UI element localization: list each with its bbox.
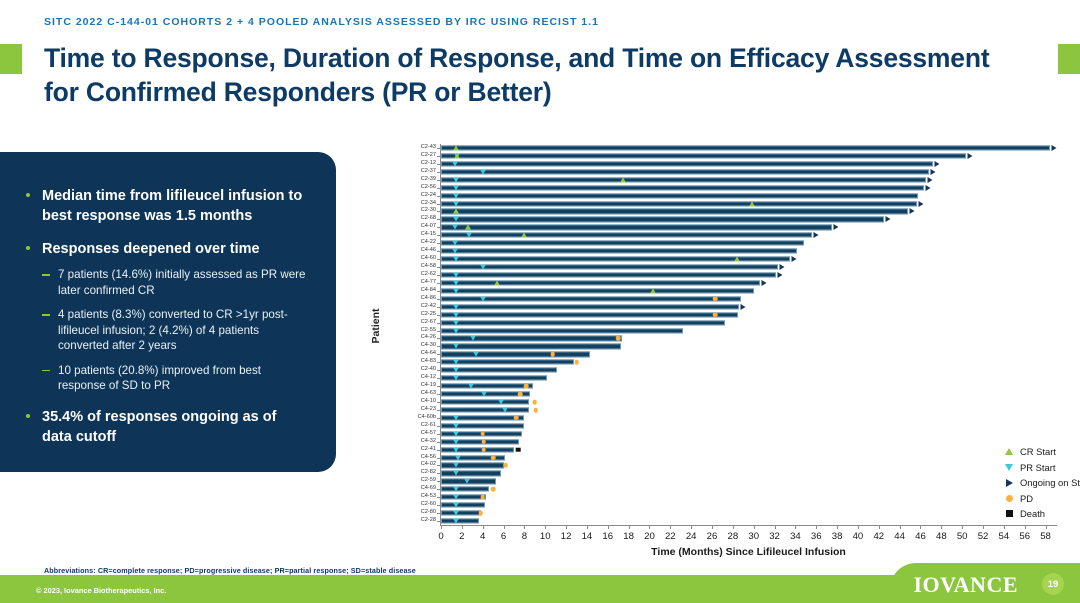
ongoing-marker-icon [741, 304, 746, 310]
y-axis-tick-label: C4-86 [421, 296, 436, 302]
pd-marker-icon [480, 495, 485, 500]
x-axis-tick [566, 525, 567, 529]
pd-marker-icon [534, 408, 539, 413]
x-axis-tick [795, 525, 796, 529]
pr-start-marker-icon [453, 360, 459, 365]
x-axis-tick-label: 50 [957, 531, 968, 542]
pd-marker-icon [491, 455, 496, 460]
y-axis-title: Patient [370, 296, 382, 356]
swimmer-bar [441, 304, 739, 309]
y-axis-tick-label: C2-62 [421, 272, 436, 278]
cr-start-marker-icon [521, 233, 527, 238]
pr-start-marker-icon [480, 296, 486, 301]
swimmer-bar [441, 352, 590, 357]
pd-marker-icon [713, 296, 718, 301]
swimmer-bar [441, 185, 924, 190]
x-axis-tick-label: 40 [853, 531, 864, 542]
pd-marker-icon [533, 400, 538, 405]
plot-wrapper: C2-43C2-27C2-12C2-37C2-39C2-56C2-24C2-34… [406, 144, 1056, 524]
key-finding-text: Responses deepened over time [42, 241, 260, 257]
dash-icon [42, 314, 50, 316]
pr-start-marker-icon [466, 233, 472, 238]
x-axis-tick [1004, 525, 1005, 529]
legend-label: PD [1020, 493, 1033, 504]
pd-marker-icon [616, 336, 621, 341]
ongoing-marker-icon [927, 177, 932, 183]
y-axis-tick-label: C4-77 [421, 280, 436, 286]
pr-start-marker-icon [453, 439, 459, 444]
x-axis-tick-label: 44 [894, 531, 905, 542]
key-finding-sublist: 7 patients (14.6%) initially assessed as… [42, 267, 310, 394]
swimmer-bar [441, 463, 504, 468]
pr-start-marker-icon [453, 415, 459, 420]
pd-marker-icon [574, 360, 579, 365]
x-axis-tick-label: 20 [644, 531, 655, 542]
x-axis-tick [837, 525, 838, 529]
key-finding-bullet: 35.4% of responses ongoing as of data cu… [26, 407, 310, 447]
pr-start-marker-icon [498, 399, 504, 404]
x-axis-tick [587, 525, 588, 529]
swimmer-bar [441, 233, 812, 238]
swimmer-bar [441, 288, 754, 293]
y-axis-tick-label: C4-60 [421, 256, 436, 262]
ongoing-marker-icon [909, 208, 914, 214]
ongoing-marker-icon [930, 169, 935, 175]
swimmer-bar [441, 296, 741, 301]
pr-start-marker-icon [453, 257, 459, 262]
slide-eyebrow: SITC 2022 C-144-01 COHORTS 2 + 4 POOLED … [44, 16, 599, 28]
pd-marker-icon [491, 487, 496, 492]
y-axis-tick-label: C2-60 [421, 502, 436, 508]
x-axis-tick [816, 525, 817, 529]
x-axis-tick-label: 54 [999, 531, 1010, 542]
swimmer-bar [441, 360, 574, 365]
swimmer-bar [441, 471, 501, 476]
swimmer-bar [441, 487, 489, 492]
y-axis-tick-label: C4-19 [421, 383, 436, 389]
y-axis-tick-label: C4-26 [421, 336, 436, 342]
swimmer-bar [441, 241, 804, 246]
ongoing-marker-icon [814, 232, 819, 238]
pr-start-marker-icon [473, 352, 479, 357]
pr-start-marker-icon [502, 407, 508, 412]
pr-start-marker-icon [470, 336, 476, 341]
x-axis-tick-label: 26 [707, 531, 718, 542]
legend-triangle-up-icon [1002, 448, 1016, 455]
y-axis-tick-label: C4-60b [418, 415, 436, 421]
pr-start-marker-icon [453, 312, 459, 317]
key-finding-subtext: 7 patients (14.6%) initially assessed as… [58, 268, 305, 297]
bullet-dot-icon [26, 246, 30, 250]
pr-start-marker-icon [453, 304, 459, 309]
pd-marker-icon [550, 352, 555, 357]
pr-start-marker-icon [453, 471, 459, 476]
key-finding-bullet: Median time from lifileucel infusion to … [26, 186, 310, 226]
pd-marker-icon [514, 416, 519, 421]
swimmer-bar [441, 503, 485, 508]
pr-start-marker-icon [453, 344, 459, 349]
x-axis-tick-label: 12 [561, 531, 572, 542]
pr-start-marker-icon [453, 447, 459, 452]
swimmer-bar [441, 399, 529, 404]
y-axis-tick-label: C2-37 [421, 169, 436, 175]
title-accent-right-bar [1058, 44, 1080, 74]
y-axis-tick-label: C4-83 [421, 359, 436, 365]
ongoing-marker-icon [925, 185, 930, 191]
pr-start-marker-icon [453, 495, 459, 500]
swimmer-bar [441, 384, 533, 389]
pr-start-marker-icon [453, 511, 459, 516]
y-axis-tick-label: C2-82 [421, 471, 436, 477]
y-axis-tick-label: C4-07 [421, 225, 436, 231]
legend-triangle-right-icon [1002, 479, 1016, 487]
pr-start-marker-icon [453, 463, 459, 468]
x-axis-tick-label: 32 [769, 531, 780, 542]
cr-start-marker-icon [734, 257, 740, 262]
x-axis-tick [941, 525, 942, 529]
x-axis-tick [733, 525, 734, 529]
y-axis-tick-label: C4-23 [421, 407, 436, 413]
x-axis-tick-label: 14 [582, 531, 593, 542]
y-axis-tick-label: C2-55 [421, 328, 436, 334]
pr-start-marker-icon [481, 392, 487, 397]
x-axis-tick [962, 525, 963, 529]
legend-label: CR Start [1020, 446, 1056, 457]
pd-marker-icon [478, 511, 483, 516]
y-axis-labels: C2-43C2-27C2-12C2-37C2-39C2-56C2-24C2-34… [406, 144, 440, 524]
ongoing-marker-icon [761, 280, 766, 286]
ongoing-marker-icon [777, 272, 782, 278]
key-finding-subitem: 4 patients (8.3%) converted to CR >1yr p… [42, 307, 310, 354]
x-axis-tick [670, 525, 671, 529]
pr-start-marker-icon [453, 280, 459, 285]
ongoing-marker-icon [935, 161, 940, 167]
swimmer-plot-chart: Patient C2-43C2-27C2-12C2-37C2-39C2-56C2… [352, 140, 1064, 558]
swimmer-bar [441, 328, 683, 333]
cr-start-marker-icon [494, 280, 500, 285]
x-axis-tick [775, 525, 776, 529]
y-axis-tick-label: C2-25 [421, 312, 436, 318]
ongoing-marker-icon [886, 216, 891, 222]
abbreviations-note: Abbreviations: CR=complete response; PD=… [44, 566, 416, 575]
pr-start-marker-icon [452, 161, 458, 166]
pr-start-marker-icon [453, 368, 459, 373]
y-axis-tick-label: C2-34 [421, 201, 436, 207]
swimmer-bar [441, 320, 725, 325]
x-axis-tick-label: 36 [811, 531, 822, 542]
title-accent-left-bar [0, 44, 22, 74]
cr-start-marker-icon [453, 145, 459, 150]
y-axis-tick-label: C4-22 [421, 240, 436, 246]
pr-start-marker-icon [480, 169, 486, 174]
x-axis-tick-label: 56 [1019, 531, 1030, 542]
x-axis-tick [712, 525, 713, 529]
x-axis-tick-label: 6 [501, 531, 506, 542]
x-axis-tick [754, 525, 755, 529]
legend-item: Death [1002, 506, 1080, 522]
x-axis-tick-label: 48 [936, 531, 947, 542]
y-axis-tick-label: C4-63 [421, 391, 436, 397]
y-axis-tick-label: C2-40 [421, 367, 436, 373]
swimmer-bar [441, 495, 486, 500]
y-axis-tick-label: C2-30 [421, 209, 436, 215]
iovance-logo: IOVANCE [913, 572, 1018, 598]
y-axis-tick-label: C4-57 [421, 431, 436, 437]
pr-start-marker-icon [453, 487, 459, 492]
y-axis-tick-label: C2-68 [421, 217, 436, 223]
y-axis-tick-label: C2-39 [421, 177, 436, 183]
legend-item: PD [1002, 491, 1080, 507]
y-axis-tick-label: C4-53 [421, 494, 436, 500]
y-axis-tick-label: C2-67 [421, 320, 436, 326]
y-axis-tick-label: C4-84 [421, 288, 436, 294]
y-axis-tick-label: C4-32 [421, 439, 436, 445]
y-axis-tick-label: C2-61 [421, 423, 436, 429]
copyright-text: © 2023, Iovance Biotherapeutics, Inc. [36, 586, 166, 595]
cr-start-marker-icon [749, 201, 755, 206]
legend-item: PR Start [1002, 460, 1080, 476]
pr-start-marker-icon [453, 185, 459, 190]
x-axis-tick-label: 8 [522, 531, 527, 542]
x-axis-tick [629, 525, 630, 529]
x-axis-tick-label: 34 [790, 531, 801, 542]
pr-start-marker-icon [453, 423, 459, 428]
pr-start-marker-icon [468, 384, 474, 389]
y-axis-tick-label: C2-43 [421, 145, 436, 151]
x-axis-tick-label: 58 [1040, 531, 1051, 542]
ongoing-marker-icon [919, 201, 924, 207]
x-axis-tick-label: 24 [686, 531, 697, 542]
x-axis-tick-label: 16 [602, 531, 613, 542]
legend-label: PR Start [1020, 462, 1055, 473]
pr-start-marker-icon [455, 455, 461, 460]
x-axis-tick [524, 525, 525, 529]
y-axis-tick-label: C4-30 [421, 344, 436, 350]
x-axis-tick-label: 42 [873, 531, 884, 542]
swimmer-bar [441, 272, 776, 277]
cr-start-marker-icon [454, 153, 460, 158]
cr-start-marker-icon [650, 288, 656, 293]
ongoing-marker-icon [792, 256, 797, 262]
bullet-dot-icon [26, 193, 30, 197]
y-axis-tick-label: C2-59 [421, 479, 436, 485]
swimmer-bar [441, 407, 529, 412]
swimmer-bar [441, 280, 760, 285]
swimmer-bar [441, 153, 966, 158]
swimmer-bar [441, 264, 778, 269]
x-axis-tick-label: 4 [480, 531, 485, 542]
ongoing-marker-icon [1051, 145, 1056, 151]
swimmer-bar [441, 518, 479, 523]
key-finding-subtext: 10 patients (20.8%) improved from best r… [58, 364, 261, 393]
x-axis-tick [441, 525, 442, 529]
legend-triangle-down-icon [1002, 464, 1016, 471]
swimmer-bar [441, 312, 738, 317]
y-axis-tick-label: C2-12 [421, 161, 436, 167]
y-axis-tick-label: C4-69 [421, 486, 436, 492]
y-axis-tick-label: C2-56 [421, 185, 436, 191]
pr-start-marker-icon [480, 265, 486, 270]
y-axis-tick-label: C4-64 [421, 352, 436, 358]
key-finding-text: Median time from lifileucel infusion to … [42, 188, 302, 224]
cr-start-marker-icon [453, 209, 459, 214]
y-axis-tick-label: C4-12 [421, 375, 436, 381]
pr-start-marker-icon [453, 193, 459, 198]
x-axis-tick [1046, 525, 1047, 529]
ongoing-marker-icon [779, 264, 784, 270]
pd-marker-icon [480, 431, 485, 436]
swimmer-bar [441, 217, 884, 222]
x-axis-tick-label: 52 [978, 531, 989, 542]
pd-marker-icon [503, 463, 508, 468]
x-axis-tick-label: 2 [459, 531, 464, 542]
pr-start-marker-icon [453, 288, 459, 293]
swimmer-bar [441, 225, 832, 230]
y-axis-tick-label: C2-27 [421, 153, 436, 159]
pd-marker-icon [481, 447, 486, 452]
y-axis-tick-label: C2-42 [421, 304, 436, 310]
y-axis-tick-label: C2-80 [421, 510, 436, 516]
x-axis-tick [879, 525, 880, 529]
x-axis-tick-label: 10 [540, 531, 551, 542]
x-axis-tick [545, 525, 546, 529]
swimmer-bar [441, 249, 797, 254]
x-axis-tick-label: 28 [728, 531, 739, 542]
key-finding-text: 35.4% of responses ongoing as of data cu… [42, 409, 276, 445]
pr-start-marker-icon [464, 479, 470, 484]
swimmer-bar [441, 169, 929, 174]
pr-start-marker-icon [453, 217, 459, 222]
page-number-badge: 19 [1042, 573, 1064, 595]
y-axis-tick-label: C4-46 [421, 248, 436, 254]
key-finding-subitem: 10 patients (20.8%) improved from best r… [42, 363, 310, 394]
pr-start-marker-icon [453, 503, 459, 508]
pr-start-marker-icon [453, 201, 459, 206]
y-axis-tick-label: C2-24 [421, 193, 436, 199]
chart-legend: CR StartPR StartOngoing on StudyPDDeath [1002, 444, 1080, 522]
x-axis-title: Time (Months) Since Lifileucel Infusion [440, 546, 1057, 558]
x-axis-tick [691, 525, 692, 529]
cr-start-marker-icon [620, 177, 626, 182]
cr-start-marker-icon [465, 225, 471, 230]
legend-item: Ongoing on Study [1002, 475, 1080, 491]
x-axis-tick-label: 38 [832, 531, 843, 542]
y-axis-tick-label: C4-58 [421, 264, 436, 270]
key-finding-subtext: 4 patients (8.3%) converted to CR >1yr p… [58, 308, 288, 352]
x-axis-tick [920, 525, 921, 529]
y-axis-tick-label: C2-41 [421, 447, 436, 453]
x-axis-tick-label: 18 [623, 531, 634, 542]
swimmer-bar [441, 193, 918, 198]
pr-start-marker-icon [453, 376, 459, 381]
pd-marker-icon [713, 312, 718, 317]
legend-circle-icon [1002, 495, 1016, 502]
legend-label: Death [1020, 508, 1045, 519]
x-axis-tick-label: 30 [748, 531, 759, 542]
x-axis-tick [1025, 525, 1026, 529]
y-axis-tick-label: C4-56 [421, 455, 436, 461]
swimmer-bar [441, 511, 481, 516]
page-title: Time to Response, Duration of Response, … [44, 42, 1004, 110]
swimmer-bar [441, 336, 622, 341]
pd-marker-icon [518, 392, 523, 397]
x-axis-tick [858, 525, 859, 529]
swimmer-bar [441, 177, 926, 182]
bullet-dot-icon [26, 414, 30, 418]
x-axis-tick [983, 525, 984, 529]
x-axis-tick-label: 0 [438, 531, 443, 542]
ongoing-marker-icon [968, 153, 973, 159]
y-axis-tick-label: C4-15 [421, 232, 436, 238]
pr-start-marker-icon [453, 431, 459, 436]
y-axis-tick-label: C2-28 [421, 518, 436, 524]
dash-icon [42, 370, 50, 372]
death-marker-icon [516, 447, 521, 452]
key-finding-bullet: Responses deepened over time7 patients (… [26, 239, 310, 394]
pr-start-marker-icon [452, 241, 458, 246]
x-axis-tick [483, 525, 484, 529]
pr-start-marker-icon [453, 519, 459, 524]
pd-marker-icon [481, 439, 486, 444]
swimmer-bar [441, 209, 908, 214]
x-axis-line [440, 525, 1057, 526]
legend-square-icon [1002, 510, 1016, 517]
pr-start-marker-icon [453, 177, 459, 182]
legend-item: CR Start [1002, 444, 1080, 460]
x-axis-tick [504, 525, 505, 529]
key-finding-subitem: 7 patients (14.6%) initially assessed as… [42, 267, 310, 298]
swimmer-bar [441, 201, 917, 206]
ongoing-marker-icon [833, 224, 838, 230]
swimmer-bar [441, 145, 1050, 150]
pr-start-marker-icon [453, 272, 459, 277]
pr-start-marker-icon [452, 249, 458, 254]
y-axis-tick-label: C4-02 [421, 463, 436, 469]
pr-start-marker-icon [453, 328, 459, 333]
slide: SITC 2022 C-144-01 COHORTS 2 + 4 POOLED … [0, 0, 1080, 603]
y-axis-tick-label: C4-10 [421, 399, 436, 405]
swimmer-bar [441, 161, 933, 166]
pr-start-marker-icon [452, 225, 458, 230]
legend-label: Ongoing on Study [1020, 477, 1080, 488]
x-axis-tick-label: 22 [665, 531, 676, 542]
key-findings-panel: Median time from lifileucel infusion to … [0, 152, 336, 472]
pd-marker-icon [524, 384, 529, 389]
dash-icon [42, 274, 50, 276]
pr-start-marker-icon [453, 320, 459, 325]
x-axis-tick [900, 525, 901, 529]
x-axis-tick [462, 525, 463, 529]
x-axis-tick [649, 525, 650, 529]
key-findings-list: Median time from lifileucel infusion to … [26, 186, 310, 447]
x-axis-tick [608, 525, 609, 529]
swimmer-bar [441, 344, 621, 349]
plot-area [441, 144, 1056, 525]
x-axis-tick-label: 46 [915, 531, 926, 542]
